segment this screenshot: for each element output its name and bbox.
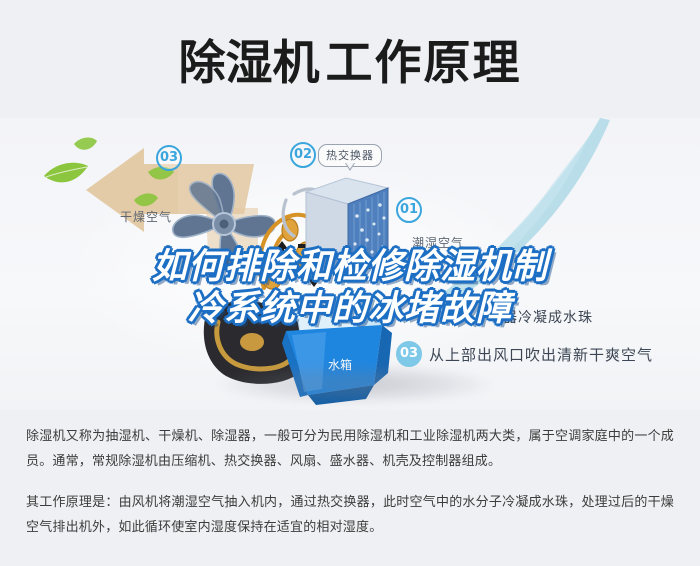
caption-humid-air: 潮湿空气	[412, 234, 464, 251]
callout-tail-icon	[345, 163, 355, 171]
caption-condensation: 器冷凝成水珠	[503, 307, 593, 327]
badge-step-01: 01	[396, 197, 422, 223]
machine-shadow	[215, 364, 495, 404]
page-title: 除湿机工作原理	[0, 36, 700, 92]
title-band: 除湿机工作原理	[0, 0, 700, 118]
badge-step-03-bottom: 03	[396, 341, 422, 367]
page-title-part1: 除湿机	[179, 36, 320, 91]
body-paragraph-2: 其工作原理是：由风机将潮湿空气抽入机内，通过热交换器，此时空气中的水分子冷凝成水…	[26, 490, 674, 540]
page-title-part2: 工作原理	[326, 36, 522, 91]
step-03-description-row: 03 从上部出风口吹出清新干爽空气	[396, 341, 653, 367]
step-03-description-text: 从上部出风口吹出清新干爽空气	[429, 344, 653, 365]
dehumidifier-principle-infographic: 除湿机工作原理	[0, 0, 700, 566]
humid-air-swoosh-graphic	[382, 118, 622, 336]
body-paragraph-1: 除湿机又称为抽湿机、干燥机、除湿器，一般可分为民用除湿机和工业除湿机两大类，属于…	[26, 424, 674, 474]
badge-step-02: 02	[290, 142, 316, 168]
caption-dry-air: 干燥空气	[120, 208, 172, 225]
illustration-stage: 水箱 03 02 01 干燥空气 潮湿空气 热交换器 器冷凝成水珠 03 从上部…	[0, 118, 700, 410]
article-body: 除湿机又称为抽湿机、干燥机、除湿器，一般可分为民用除湿机和工业除湿机两大类，属于…	[0, 410, 700, 566]
badge-step-03-left: 03	[156, 145, 182, 171]
